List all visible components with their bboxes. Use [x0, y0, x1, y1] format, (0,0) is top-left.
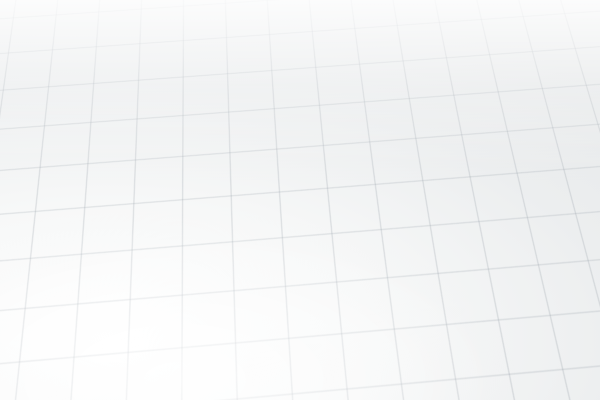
- candlestick-illustration: [0, 0, 600, 400]
- candle-series-above-band: [0, 0, 600, 400]
